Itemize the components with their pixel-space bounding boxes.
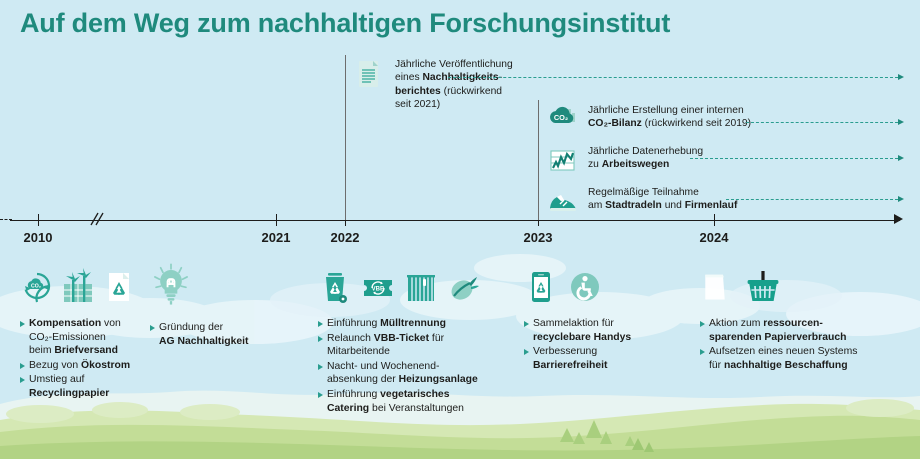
list-item: Bezug von Ökostrom <box>20 359 136 373</box>
vbb-ticket-icon: VBB <box>361 268 395 308</box>
timeline-axis <box>10 220 900 221</box>
group-2010-bullets: Kompensation vonCO₂-Emissionenbeim Brief… <box>20 317 136 401</box>
list-item-label: Aufsetzen eines neuen Systemsfür nachhal… <box>709 345 857 372</box>
list-item-label: Sammelaktion fürrecyclebare Handys <box>533 317 631 344</box>
axis-break-marker <box>85 208 107 230</box>
radiator-icon <box>404 268 438 308</box>
group-2010: CO₂ <box>20 262 136 402</box>
list-item-label: Bezug von Ökostrom <box>29 359 130 373</box>
bullet-triangle-icon <box>318 321 323 327</box>
paper-sheet-icon <box>700 268 730 308</box>
stem-2023 <box>538 100 539 220</box>
list-item-label: Aktion zum ressourcen-sparenden Papierve… <box>709 317 846 344</box>
callout-text: Jährliche Erstellung einer internen CO₂-… <box>588 104 751 131</box>
axis-year-label-2024: 2024 <box>700 230 729 245</box>
group-2010-icons: CO₂ <box>20 262 136 308</box>
shopping-basket-icon <box>746 268 780 308</box>
list-item: Sammelaktion fürrecyclebare Handys <box>524 317 631 344</box>
accessibility-icon <box>568 268 602 308</box>
bullet-triangle-icon <box>318 392 323 398</box>
bullet-triangle-icon <box>524 349 529 355</box>
list-item-label: Gründung derAG Nachhaltigkeit <box>159 321 249 348</box>
list-item-label: Relaunch VBB-Ticket fürMitarbeitende <box>327 332 444 359</box>
svg-text:CO₂: CO₂ <box>554 113 568 122</box>
list-item: Aktion zum ressourcen-sparenden Papierve… <box>700 317 857 344</box>
callout-dash-arrow-3 <box>898 196 904 202</box>
bullet-triangle-icon <box>150 325 155 331</box>
bullet-triangle-icon <box>20 321 25 327</box>
callout-dash-arrow-0 <box>898 74 904 80</box>
callout-dash-arrow-2 <box>898 155 904 161</box>
list-item-label: Einführung vegetarischesCatering bei Ver… <box>327 388 464 415</box>
list-item: Aufsetzen eines neuen Systemsfür nachhal… <box>700 345 857 372</box>
vegetable-icon <box>447 268 481 308</box>
callout-dash-arrow-1 <box>898 119 904 125</box>
callout-commute-survey[interactable]: Jährliche Datenerhebung zu Arbeitswegen <box>545 145 703 179</box>
recycling-bin-icon <box>318 268 352 308</box>
list-item: Gründung derAG Nachhaltigkeit <box>150 321 249 348</box>
list-item: Kompensation vonCO₂-Emissionenbeim Brief… <box>20 317 136 358</box>
list-item-label: VerbesserungBarrierefreiheit <box>533 345 608 372</box>
group-2022-bullets: Einführung Mülltrennung Relaunch VBB-Tic… <box>318 317 481 415</box>
callout-text: Regelmäßige Teilnahme am Stadtradeln und… <box>588 186 737 213</box>
bullet-triangle-icon <box>318 336 323 342</box>
list-item-label: Einführung Mülltrennung <box>327 317 446 331</box>
list-item: VerbesserungBarrierefreiheit <box>524 345 631 372</box>
group-2022-icons: VBB <box>318 262 481 308</box>
callout-dash-1 <box>746 122 898 123</box>
group-2021: Gründung derAG Nachhaltigkeit <box>150 262 249 349</box>
callout-dash-0 <box>448 77 898 78</box>
co2-cycle-icon: CO₂ <box>20 268 54 308</box>
list-item: Relaunch VBB-Ticket fürMitarbeitende <box>318 332 481 359</box>
list-item: Einführung Mülltrennung <box>318 317 481 331</box>
list-item-label: Kompensation vonCO₂-Emissionenbeim Brief… <box>29 317 121 358</box>
callout-text: Jährliche Datenerhebung zu Arbeitswegen <box>588 145 703 172</box>
list-item: Nacht- und Wochenend-absenkung der Heizu… <box>318 360 481 387</box>
group-2023: Sammelaktion fürrecyclebare Handys Verbe… <box>524 262 631 373</box>
bullet-triangle-icon <box>318 364 323 370</box>
list-item-label: Umstieg aufRecyclingpapier <box>29 373 109 400</box>
list-item: Umstieg aufRecyclingpapier <box>20 373 136 400</box>
stem-2022 <box>345 55 346 220</box>
commute-survey-icon <box>545 145 579 179</box>
page-title: Auf dem Weg zum nachhaltigen Forschungsi… <box>20 8 670 39</box>
list-item: Einführung vegetarischesCatering bei Ver… <box>318 388 481 415</box>
axis-arrowhead <box>894 214 903 224</box>
svg-text:VBB: VBB <box>372 286 385 292</box>
axis-year-label-2010: 2010 <box>24 230 53 245</box>
group-2021-bullets: Gründung derAG Nachhaltigkeit <box>150 321 249 348</box>
bullet-triangle-icon <box>20 377 25 383</box>
bullet-triangle-icon <box>524 321 529 327</box>
list-item-label: Nacht- und Wochenend-absenkung der Heizu… <box>327 360 478 387</box>
infographic-root: Auf dem Weg zum nachhaltigen Forschungsi… <box>0 0 920 459</box>
axis-year-label-2022: 2022 <box>331 230 360 245</box>
group-2024-icons <box>700 262 857 308</box>
group-2023-bullets: Sammelaktion fürrecyclebare Handys Verbe… <box>524 317 631 372</box>
callout-dash-3 <box>726 199 898 200</box>
group-2024: Aktion zum ressourcen-sparenden Papierve… <box>700 262 857 373</box>
group-2024-bullets: Aktion zum ressourcen-sparenden Papierve… <box>700 317 857 372</box>
svg-text:CO₂: CO₂ <box>31 284 42 290</box>
axis-tick-2010 <box>38 214 39 226</box>
bullet-triangle-icon <box>700 321 705 327</box>
axis-year-label-2023: 2023 <box>524 230 553 245</box>
axis-tick-2021 <box>276 214 277 226</box>
callout-dash-2 <box>690 158 898 159</box>
phone-recycle-icon <box>524 268 558 308</box>
bullet-triangle-icon <box>20 363 25 369</box>
axis-year-label-2021: 2021 <box>262 230 291 245</box>
group-2022: VBB Einführung Mü <box>318 262 481 416</box>
recycling-paper-icon <box>102 268 136 308</box>
callout-sustainability-report[interactable]: Jährliche Veröffentlichung eines Nachhal… <box>352 58 513 112</box>
group-2023-icons <box>524 262 631 308</box>
sustainability-report-icon <box>352 58 386 92</box>
bullet-triangle-icon <box>700 349 705 355</box>
callout-sports-participation[interactable]: Regelmäßige Teilnahme am Stadtradeln und… <box>545 186 737 220</box>
callout-text: Jährliche Veröffentlichung eines Nachhal… <box>395 58 513 112</box>
wind-solar-icon <box>61 268 95 308</box>
co2-balance-icon: CO₂ <box>545 104 579 138</box>
group-2021-icons <box>150 262 249 308</box>
callout-co2-balance[interactable]: CO₂ Jährliche Erstellung einer internen … <box>545 104 751 138</box>
lightbulb-icon <box>150 262 192 308</box>
sports-participation-icon <box>545 186 579 220</box>
